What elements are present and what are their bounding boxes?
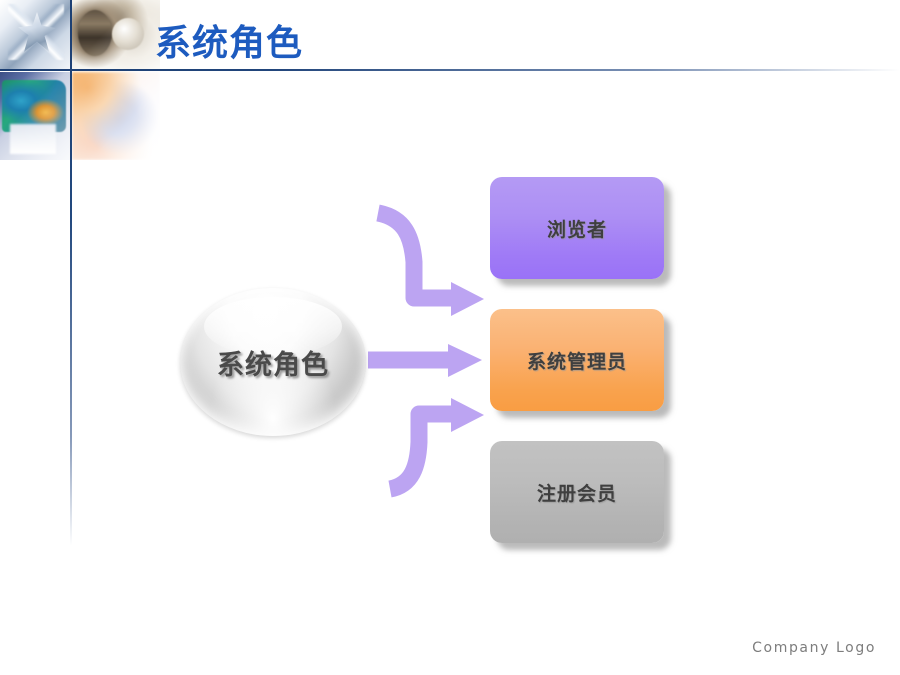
role-box-member[interactable]: 注册会员: [490, 441, 664, 543]
hub-sphere: 系统角色: [180, 288, 366, 436]
hub-sphere-label: 系统角色: [217, 343, 329, 382]
connector-arrow-viewer: [378, 213, 484, 316]
slide-canvas: 系统角色 系统角色 浏览者 系统管理员 注册会员 Company Logo: [0, 0, 900, 675]
role-box-viewer[interactable]: 浏览者: [490, 177, 664, 279]
orange-blue-abstract-photo-tile: [72, 72, 160, 160]
stacked-coins-photo-tile: [72, 0, 160, 70]
left-vertical-rule: [70, 0, 72, 546]
role-box-admin-label: 系统管理员: [527, 347, 627, 374]
company-logo-text: Company Logo: [752, 640, 876, 656]
role-box-admin[interactable]: 系统管理员: [490, 309, 664, 411]
crystal-star-photo-tile: [0, 0, 70, 70]
corner-decoration-art: [0, 0, 160, 160]
role-box-member-label: 注册会员: [537, 479, 617, 506]
connector-arrow-admin: [368, 344, 482, 377]
page-title: 系统角色: [155, 14, 303, 66]
teal-screen-photo-tile: [0, 72, 70, 160]
header-horizontal-rule: [0, 69, 900, 71]
connector-arrow-member: [390, 398, 484, 489]
role-box-viewer-label: 浏览者: [547, 215, 607, 242]
